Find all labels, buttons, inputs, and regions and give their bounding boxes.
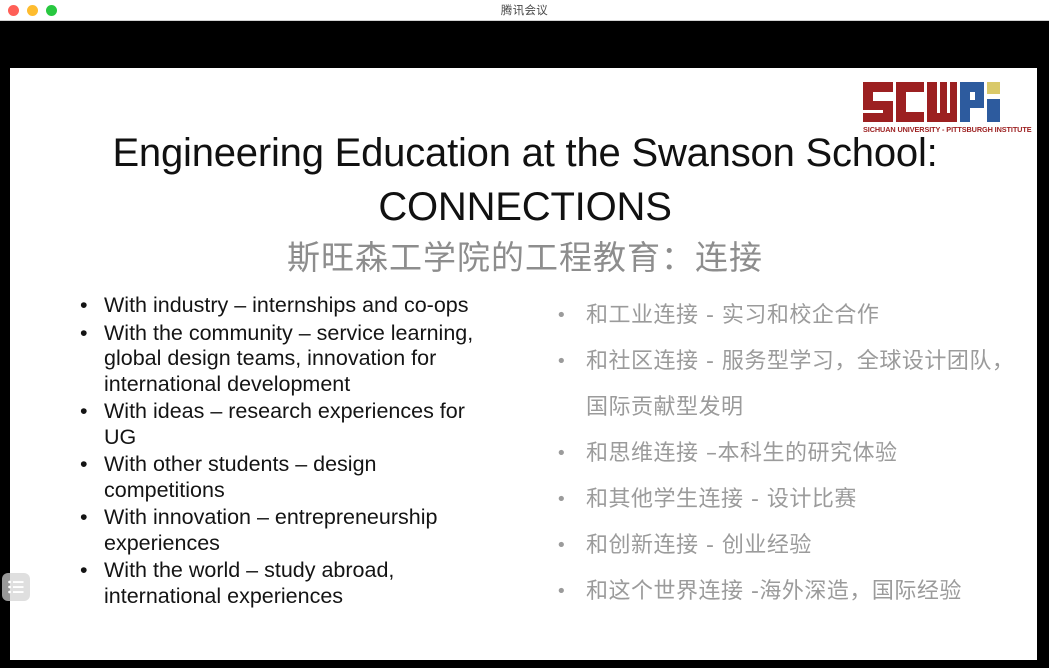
list-item: • 和其他学生连接 - 设计比赛 (538, 477, 1018, 523)
bullet-marker-icon: • (80, 452, 88, 478)
bullet-column-english: • With industry – internships and co-ops… (62, 293, 502, 611)
list-item-text: With industry – internships and co-ops (104, 293, 468, 317)
logo-letter-p (960, 82, 984, 122)
list-item-text: With the community – service learning, g… (104, 321, 473, 396)
bullet-marker-icon: • (80, 293, 88, 319)
presentation-slide: SICHUAN UNIVERSITY - PITTSBURGH INSTITUT… (10, 68, 1037, 660)
bullet-marker-icon: • (556, 569, 567, 615)
bullet-marker-icon: • (556, 431, 567, 477)
list-item: • 和这个世界连接 -海外深造，国际经验 (538, 569, 1018, 615)
bullet-marker-icon: • (80, 399, 88, 425)
shared-screen-stage: SICHUAN UNIVERSITY - PITTSBURGH INSTITUT… (0, 21, 1049, 668)
list-item: • 和思维连接 –本科生的研究体验 (538, 431, 1018, 477)
bullet-marker-icon: • (556, 523, 567, 569)
window-title: 腾讯会议 (0, 0, 1049, 21)
list-item: • 和工业连接 - 实习和校企合作 (538, 293, 1018, 339)
list-item: • With the community – service learning,… (62, 321, 502, 398)
list-item: • With other students – design competiti… (62, 452, 502, 503)
list-item-text: 和其他学生连接 - 设计比赛 (586, 487, 857, 512)
logo-letter-u (927, 82, 957, 122)
window-titlebar: 腾讯会议 (0, 0, 1049, 21)
list-item-text: With other students – design competition… (104, 452, 377, 502)
meeting-window: 腾讯会议 (0, 0, 1049, 668)
list-item: • With ideas – research experiences for … (62, 399, 502, 450)
list-item-text: 和思维连接 –本科生的研究体验 (586, 441, 898, 466)
list-item-text: With ideas – research experiences for UG (104, 399, 465, 449)
slide-title-english: Engineering Education at the Swanson Sch… (50, 126, 1000, 234)
bullet-marker-icon: • (556, 339, 567, 385)
bullet-list-chinese: • 和工业连接 - 实习和校企合作 • 和社区连接 - 服务型学习，全球设计团队… (538, 293, 1018, 615)
bullet-marker-icon: • (80, 558, 88, 584)
slide-title-chinese: 斯旺森工学院的工程教育：连接 (50, 238, 1000, 278)
list-item-text: 和社区连接 - 服务型学习，全球设计团队，国际贡献型发明 (586, 349, 1014, 420)
bullet-marker-icon: • (556, 477, 567, 523)
logo-letter-s (863, 82, 893, 122)
logo-letter-i (987, 82, 1000, 122)
slide-title-line1: Engineering Education at the Swanson Sch… (50, 126, 1000, 180)
list-item-text: With innovation – entrepreneurship exper… (104, 505, 437, 555)
list-item: • With innovation – entrepreneurship exp… (62, 505, 502, 556)
bullet-column-chinese: • 和工业连接 - 实习和校企合作 • 和社区连接 - 服务型学习，全球设计团队… (538, 293, 1018, 615)
bulleted-list-icon (8, 580, 24, 594)
logo-letter-c (896, 82, 924, 122)
bullet-marker-icon: • (80, 321, 88, 347)
bullet-list-english: • With industry – internships and co-ops… (62, 293, 502, 609)
bullet-marker-icon: • (80, 505, 88, 531)
slide-title-line2: CONNECTIONS (50, 180, 1000, 234)
list-item: • With industry – internships and co-ops (62, 293, 502, 319)
list-item: • With the world – study abroad, interna… (62, 558, 502, 609)
list-item-text: 和工业连接 - 实习和校企合作 (586, 303, 879, 328)
scupi-wordmark (863, 82, 1015, 122)
list-item-text: 和这个世界连接 -海外深造，国际经验 (586, 579, 962, 604)
list-item: • 和创新连接 - 创业经验 (538, 523, 1018, 569)
list-item: • 和社区连接 - 服务型学习，全球设计团队，国际贡献型发明 (538, 339, 1018, 431)
participants-list-button[interactable] (2, 573, 30, 601)
list-item-text: With the world – study abroad, internati… (104, 558, 394, 608)
bullet-marker-icon: • (556, 293, 567, 339)
list-item-text: 和创新连接 - 创业经验 (586, 533, 812, 558)
